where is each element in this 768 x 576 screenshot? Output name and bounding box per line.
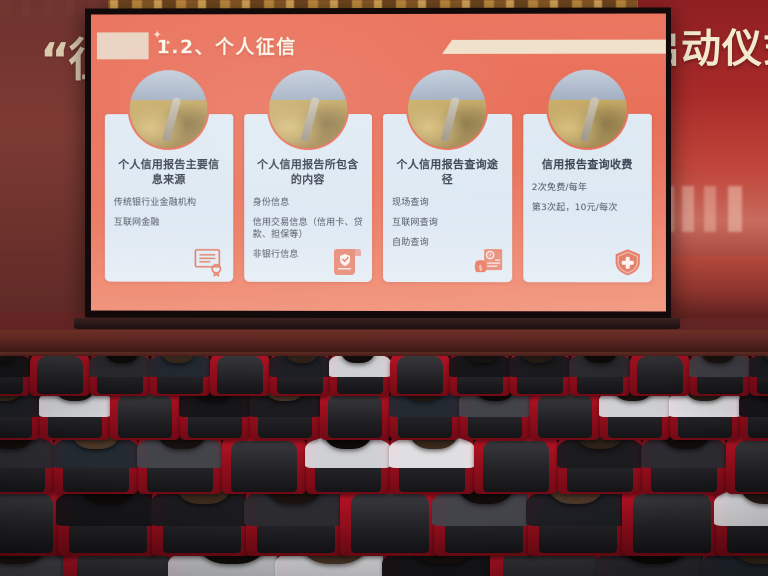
seat-cushion — [503, 553, 597, 576]
slide-title: 1.2、个人征信 — [157, 32, 297, 59]
card-item: 传统银行业金融机构 — [114, 197, 224, 209]
svg-text:$: $ — [478, 264, 482, 272]
money-document-icon: ¥ $ — [471, 247, 505, 277]
theater-seat — [622, 484, 722, 556]
shield-plus-icon — [611, 247, 645, 277]
card-items: 现场查询 互联网查询 自助查询 — [392, 197, 503, 250]
decorative-tab — [97, 32, 149, 59]
card-title: 个人信用报告查询途径 — [392, 158, 503, 188]
card-item: 2次免费/每年 — [532, 182, 643, 194]
theater-seat — [0, 484, 64, 556]
card-items: 2次免费/每年 第3次起，10元/每次 — [532, 182, 643, 214]
card-item: 现场查询 — [392, 197, 503, 209]
scroll-shield-icon — [331, 247, 365, 277]
info-card: 个人信用报告查询途径 现场查询 互联网查询 自助查询 ¥ — [383, 114, 512, 282]
theater-seat — [210, 356, 270, 396]
card-photo-circle — [406, 68, 488, 150]
seat-cushion — [217, 356, 264, 394]
seat-cushion — [483, 441, 549, 492]
seat-cushion — [37, 356, 84, 394]
seat-cushion — [118, 394, 173, 438]
decorative-bar — [442, 40, 666, 54]
card-row: 个人信用报告主要信息来源 传统银行业金融机构 互联网金融 — [105, 114, 652, 283]
card-item: 身份信息 — [253, 197, 363, 209]
info-card: 个人信用报告主要信息来源 传统银行业金融机构 互联网金融 — [105, 114, 233, 282]
seat-cushion — [351, 494, 429, 553]
theater-seat — [390, 356, 450, 396]
audience-seating — [0, 356, 768, 576]
theater-seat — [222, 432, 306, 494]
seat-cushion — [77, 553, 171, 576]
theater-seat — [30, 356, 90, 396]
card-photo-circle — [128, 68, 210, 150]
card-photo-circle — [546, 68, 628, 150]
card-photo-circle — [267, 68, 349, 150]
venue-photo: “征 启动仪式 ✦ ✦ 1.2、个人征信 — [0, 0, 768, 576]
seat-cushion — [633, 494, 711, 553]
theater-seat — [474, 432, 558, 494]
card-item: 第3次起，10元/每次 — [532, 202, 643, 214]
card-items: 传统银行业金融机构 互联网金融 — [114, 197, 224, 229]
theater-seat — [630, 356, 690, 396]
info-card: 个人信用报告所包含的内容 身份信息 信用交易信息（信用卡、贷款、担保等） 非银行… — [244, 114, 372, 282]
info-card: 信用报告查询收费 2次免费/每年 第3次起，10元/每次 — [523, 114, 652, 283]
certificate-icon — [192, 247, 226, 277]
projection-screen: ✦ ✦ 1.2、个人征信 个人信用报告主要信息来源 传统银行业金融机构 — [85, 7, 671, 318]
seat-cushion — [637, 356, 684, 394]
seat-cushion — [397, 356, 444, 394]
card-title: 个人信用报告所包含的内容 — [253, 158, 363, 188]
card-title: 信用报告查询收费 — [532, 158, 643, 173]
presentation-slide: ✦ ✦ 1.2、个人征信 个人信用报告主要信息来源 传统银行业金融机构 — [91, 13, 666, 311]
seat-cushion — [538, 394, 593, 438]
svg-text:¥: ¥ — [488, 253, 491, 259]
seat-cushion — [0, 494, 53, 553]
seat-cushion — [735, 441, 768, 492]
card-item: 互联网金融 — [114, 217, 224, 229]
card-item: 信用交易信息（信用卡、贷款、担保等） — [253, 217, 363, 241]
seat-cushion — [328, 394, 383, 438]
theater-seat — [726, 432, 768, 494]
seat-cushion — [231, 441, 297, 492]
card-title: 个人信用报告主要信息来源 — [114, 158, 224, 188]
audience-member-body — [749, 356, 768, 377]
screen-bezel — [74, 318, 680, 329]
card-item: 互联网查询 — [392, 217, 503, 229]
theater-seat — [340, 484, 440, 556]
screen-surface: ✦ ✦ 1.2、个人征信 个人信用报告主要信息来源 传统银行业金融机构 — [91, 13, 666, 311]
